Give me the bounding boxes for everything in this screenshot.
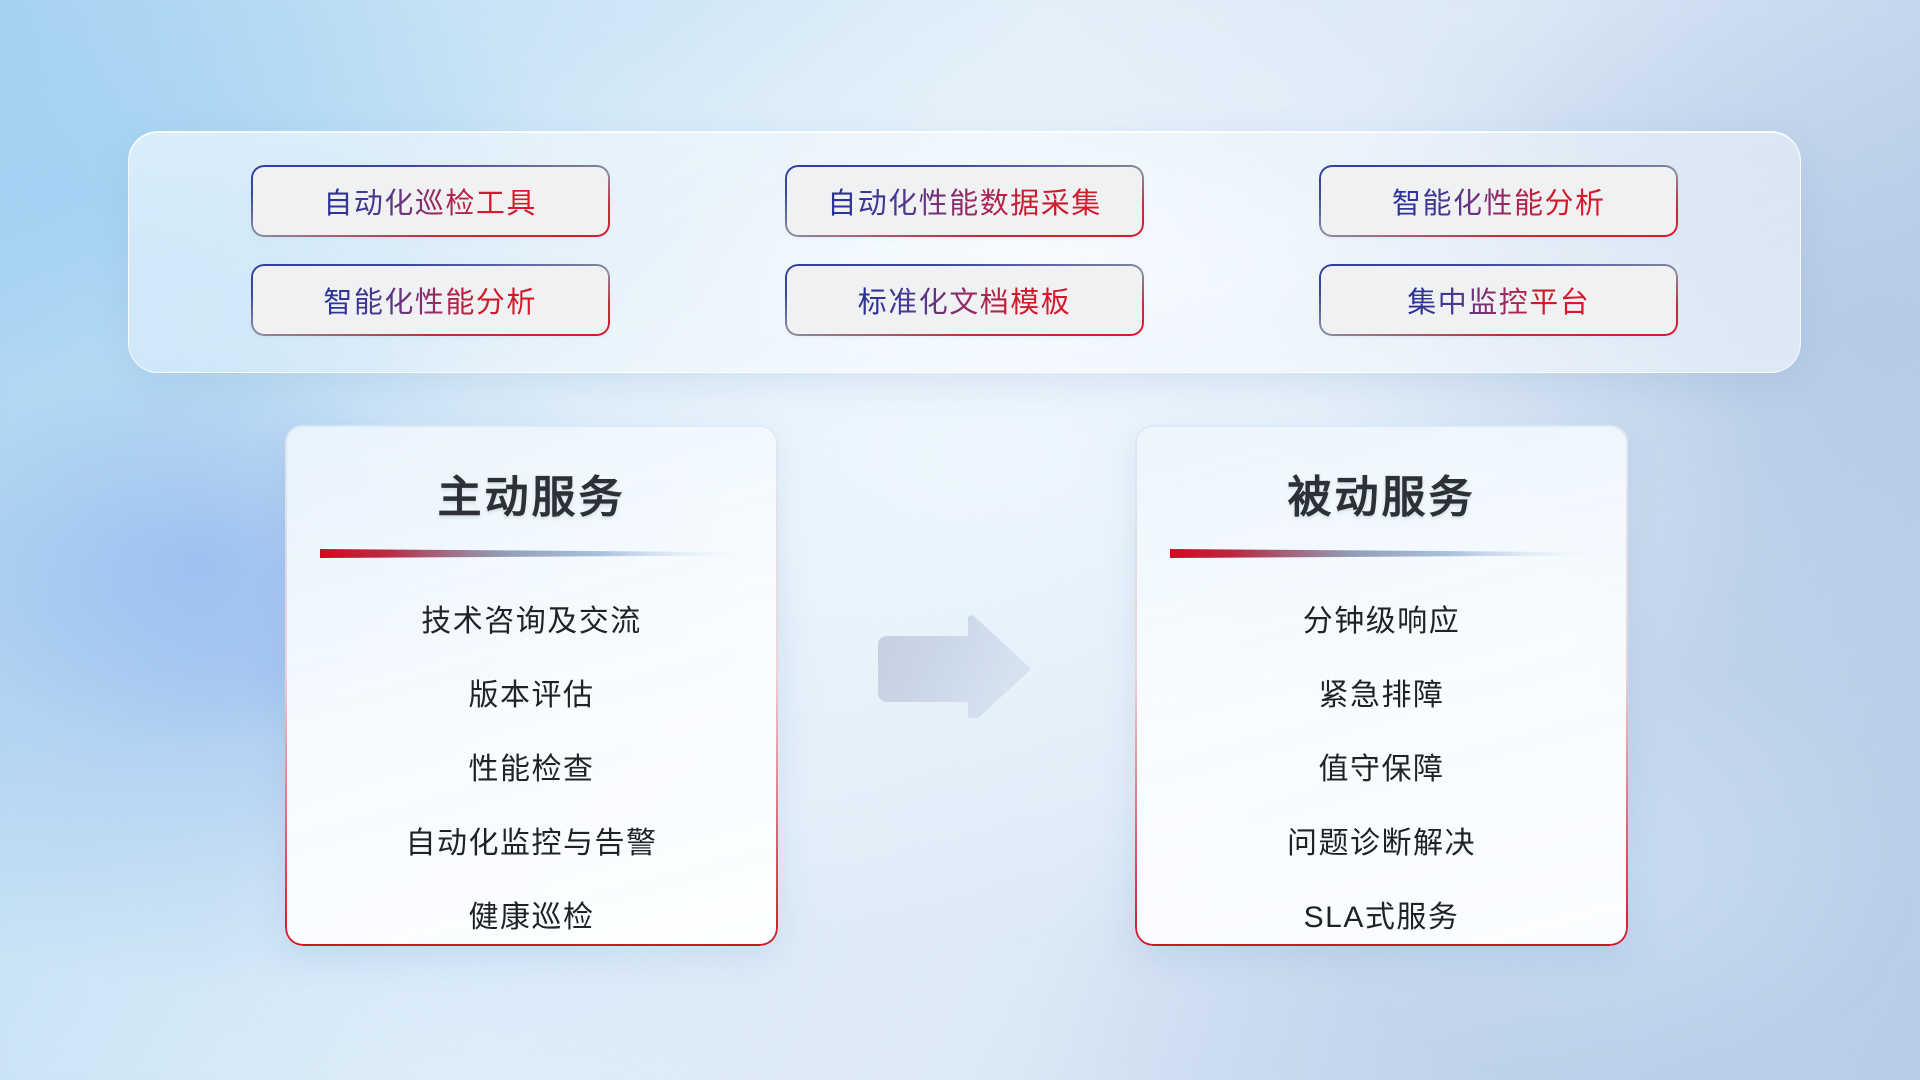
service-item-list: 分钟级响应 紧急排障 值守保障 问题诊断解决 SLA式服务 [1135,585,1628,946]
service-item: 性能检查 [285,733,778,807]
service-item: 值守保障 [1135,733,1628,807]
capability-tag-label: 智能化性能分析 [323,279,537,321]
service-item: 自动化监控与告警 [285,807,778,881]
service-card-title: 被动服务 [1135,461,1628,525]
capability-tag[interactable]: 集中监控平台 [1321,266,1676,334]
capability-tag[interactable]: 自动化性能数据采集 [787,167,1142,235]
service-item-list: 技术咨询及交流 版本评估 性能检查 自动化监控与告警 健康巡检 [285,585,778,946]
capability-tag[interactable]: 智能化性能分析 [253,266,608,334]
capability-tag-label: 自动化性能数据采集 [827,180,1102,222]
service-card-active: 主动服务 技术咨询及交流 版本评估 性能检查 自动化监控与告警 健康巡检 [285,425,778,946]
capability-panel: 自动化巡检工具 自动化性能数据采集 智能化性能分析 智能化性能分析 标准化文档模… [128,131,1801,373]
title-divider [1170,547,1594,559]
arrow-right-icon [872,614,1032,718]
service-item: 紧急排障 [1135,659,1628,733]
capability-tag-label: 智能化性能分析 [1392,180,1606,222]
capability-tag-label: 标准化文档模板 [858,279,1072,321]
service-item: 健康巡检 [285,881,778,946]
capability-tag[interactable]: 智能化性能分析 [1321,167,1676,235]
capability-tag[interactable]: 标准化文档模板 [787,266,1142,334]
service-card-title: 主动服务 [285,461,778,525]
service-item: 技术咨询及交流 [285,585,778,659]
title-divider [320,547,744,559]
capability-tag-label: 集中监控平台 [1407,279,1590,321]
service-item: 版本评估 [285,659,778,733]
service-item: SLA式服务 [1135,881,1628,946]
service-card-passive: 被动服务 分钟级响应 紧急排障 值守保障 问题诊断解决 SLA式服务 [1135,425,1628,946]
service-item: 问题诊断解决 [1135,807,1628,881]
service-item: 分钟级响应 [1135,585,1628,659]
capability-tag-label: 自动化巡检工具 [323,180,537,222]
capability-tag[interactable]: 自动化巡检工具 [253,167,608,235]
